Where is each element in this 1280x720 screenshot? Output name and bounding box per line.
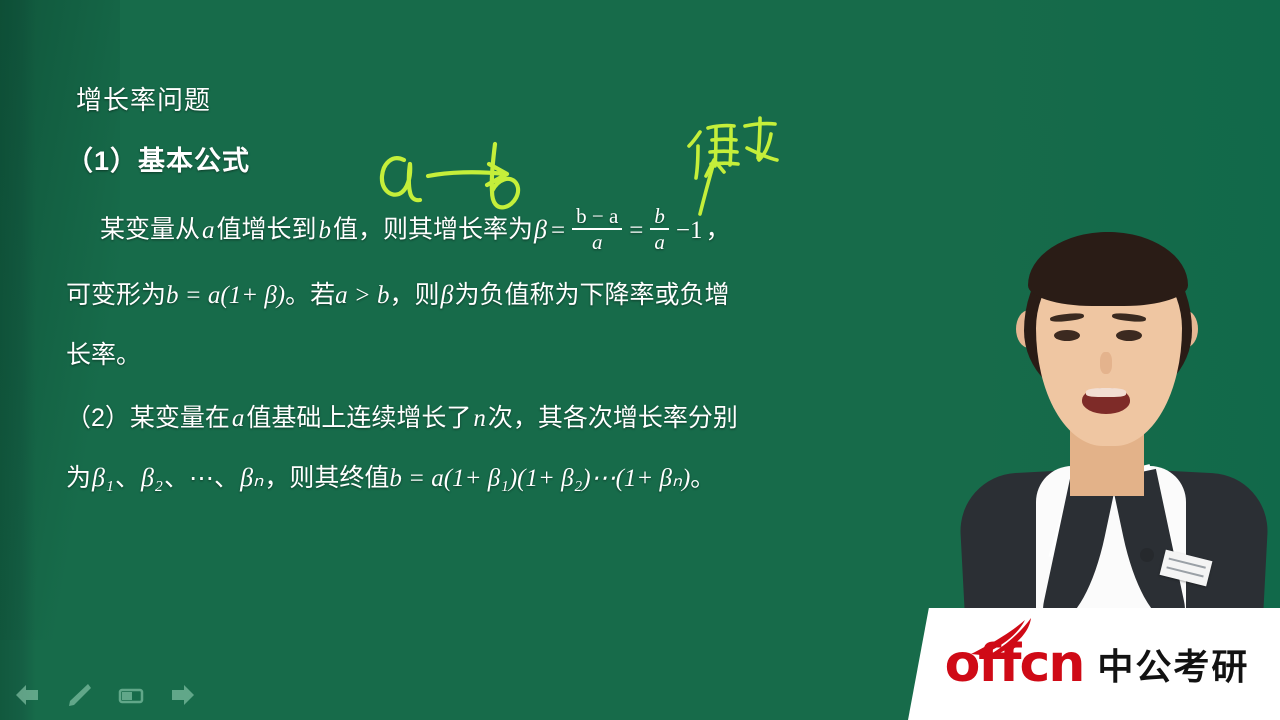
p2-mid: 值基础上连续增长了 xyxy=(246,404,471,432)
paragraph-1-line-3: 长率。 xyxy=(66,335,141,371)
slide-content: 增长率问题 （1）基本公式 某变量从a值增长到b值，则其增长率为β=b − aa… xyxy=(0,0,960,620)
p2-prefix: （2）某变量在 xyxy=(66,404,230,432)
p1l2-prefix: 可变形为 xyxy=(66,281,166,309)
fraction-b-over-a: ba xyxy=(650,205,669,253)
p1l2-mid: 。若 xyxy=(285,281,335,309)
variable-n: n xyxy=(471,405,488,432)
annotation-toolbar[interactable] xyxy=(12,678,198,712)
variable-a-2: a xyxy=(230,405,247,432)
presenter-nose xyxy=(1100,352,1112,374)
fraction-numerator: b xyxy=(650,205,669,227)
fraction-numerator: b − a xyxy=(572,205,622,227)
beta-n: βₙ xyxy=(239,463,264,492)
paragraph-2-line-1: （2）某变量在a值基础上连续增长了n次，其各次增长率分别 xyxy=(66,398,738,434)
minus-one: −1 xyxy=(673,217,706,244)
fraction-denominator: a xyxy=(650,231,669,253)
brand-logo-bar: offcn 中公考研 xyxy=(908,608,1280,720)
eraser-icon[interactable] xyxy=(116,682,146,708)
beta-symbol-2: β xyxy=(440,280,455,309)
presenter-teeth xyxy=(1086,388,1126,397)
final-value-formula: b = a(1+ β₁)(1+ β₂)⋯(1+ βₙ) xyxy=(389,465,690,492)
lecture-video-frame: 增长率问题 （1）基本公式 某变量从a值增长到b值，则其增长率为β=b − aa… xyxy=(0,0,1280,720)
equals-1: = xyxy=(548,217,568,244)
p1-prefix: 某变量从 xyxy=(100,216,200,244)
p1l2-suffix: 为负值称为下降率或负增 xyxy=(454,281,729,309)
paragraph-1-line-2: 可变形为b = a(1+ β)。若a > b，则β为负值称为下降率或负增 xyxy=(66,275,729,311)
offcn-swoosh-icon xyxy=(969,616,1055,656)
ellipsis: ⋯ xyxy=(189,465,214,492)
p2-period: 。 xyxy=(690,464,715,492)
paragraph-2-line-2: 为β₁、β₂、⋯、βₙ，则其终值b = a(1+ β₁)(1+ β₂)⋯(1+ … xyxy=(66,458,715,494)
section-heading-1: （1）基本公式 xyxy=(66,139,250,178)
presenter-eye-left xyxy=(1054,330,1080,341)
equals-2: = xyxy=(626,217,646,244)
beta-symbol: β xyxy=(533,215,548,244)
offcn-logo-text: offcn xyxy=(939,638,1084,690)
presenter-eye-right xyxy=(1116,330,1142,341)
p2l2-prefix: 为 xyxy=(66,464,91,492)
fraction-denominator: a xyxy=(588,231,607,253)
beta-1: β₁ xyxy=(91,463,115,492)
beta-2: β₂ xyxy=(140,463,164,492)
formula-b-equals-a-one-plus-beta: b = a(1+ β) xyxy=(166,282,285,309)
fraction-b-minus-a-over-a: b − aa xyxy=(572,205,622,253)
sep-2: 、 xyxy=(164,464,189,492)
p2-suffix: 次，其各次增长率分别 xyxy=(488,404,738,432)
variable-b: b xyxy=(317,217,334,244)
pen-icon[interactable] xyxy=(64,682,94,708)
back-arrow-icon[interactable] xyxy=(12,682,42,708)
paragraph-1-line-1: 某变量从a值增长到b值，则其增长率为β=b − aa=ba−1， xyxy=(100,207,731,255)
p1-suffix: 值，则其增长率为 xyxy=(333,216,533,244)
sep-1: 、 xyxy=(115,464,140,492)
presenter-fringe xyxy=(1028,232,1188,306)
trailing-comma: ， xyxy=(706,216,731,244)
forward-arrow-icon[interactable] xyxy=(168,682,198,708)
offcn-logo-chinese: 中公考研 xyxy=(1097,638,1249,690)
variable-a: a xyxy=(200,217,217,244)
p1l2-mid-2: ，则 xyxy=(390,281,440,309)
p2l2-mid: ，则其终值 xyxy=(264,464,389,492)
p1-mid: 值增长到 xyxy=(217,216,317,244)
presenter-lapel-mic xyxy=(1140,548,1154,562)
page-title: 增长率问题 xyxy=(76,80,211,117)
inequality-a-gt-b: a > b xyxy=(335,282,389,309)
sep-3: 、 xyxy=(214,464,239,492)
